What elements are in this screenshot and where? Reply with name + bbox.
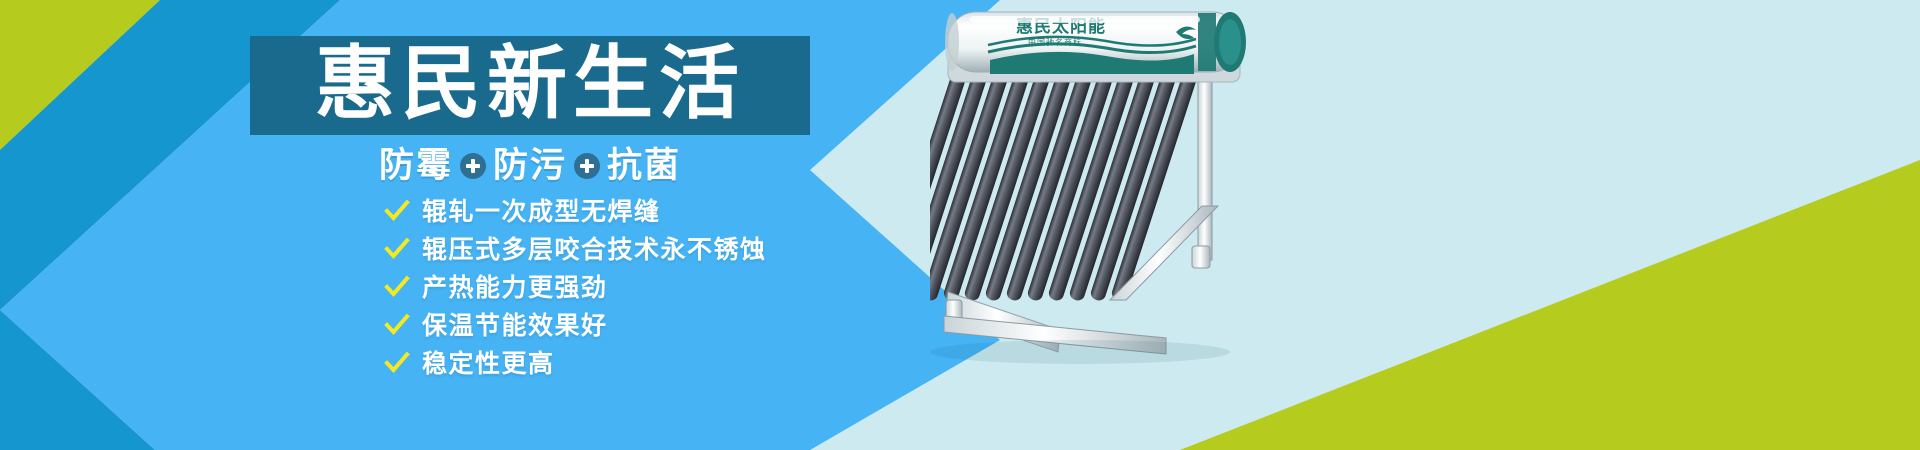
list-item: 辊压式多层咬合技术永不锈蚀 (384, 234, 767, 264)
list-item: 稳定性更高 (384, 348, 767, 378)
check-icon (384, 312, 410, 338)
svg-text:中国驰名商标: 中国驰名商标 (1028, 37, 1082, 47)
page-title: 惠民新生活 (315, 44, 745, 124)
list-item: 辊轧一次成型无焊缝 (384, 196, 767, 226)
list-item: 产热能力更强劲 (384, 272, 767, 302)
product-image: 惠民太阳能 中国驰名商标 (930, 0, 1290, 450)
feature-label: 稳定性更高 (422, 351, 555, 376)
promo-banner: 惠民新生活 防霉 防污 抗菌 辊轧一次成型无焊缝 辊压式多层咬合技术永不锈蚀 产… (0, 0, 1920, 450)
subtitle-word-3: 抗菌 (607, 149, 681, 184)
headline-bar: 惠民新生活 (250, 36, 810, 135)
ground-shadow (930, 340, 1230, 364)
subtitle-word-2: 防污 (493, 149, 567, 184)
plus-icon (574, 153, 600, 179)
list-item: 保温节能效果好 (384, 310, 767, 340)
plus-icon (460, 153, 486, 179)
check-icon (384, 236, 410, 262)
check-icon (384, 350, 410, 376)
evacuated-tube-array (930, 60, 1202, 302)
solar-water-heater-illustration: 惠民太阳能 中国驰名商标 (930, 0, 1290, 450)
check-icon (384, 274, 410, 300)
feature-label: 辊压式多层咬合技术永不锈蚀 (422, 237, 767, 262)
feature-label: 辊轧一次成型无焊缝 (422, 199, 661, 224)
check-icon (384, 198, 410, 224)
subtitle-row: 防霉 防污 抗菌 (250, 143, 810, 189)
feature-list: 辊轧一次成型无焊缝 辊压式多层咬合技术永不锈蚀 产热能力更强劲 保温节能效果好 (384, 196, 767, 378)
water-tank: 惠民太阳能 中国驰名商标 (945, 12, 1246, 74)
feature-label: 产热能力更强劲 (422, 275, 608, 300)
feature-label: 保温节能效果好 (422, 313, 608, 338)
subtitle-word-1: 防霉 (379, 149, 453, 184)
